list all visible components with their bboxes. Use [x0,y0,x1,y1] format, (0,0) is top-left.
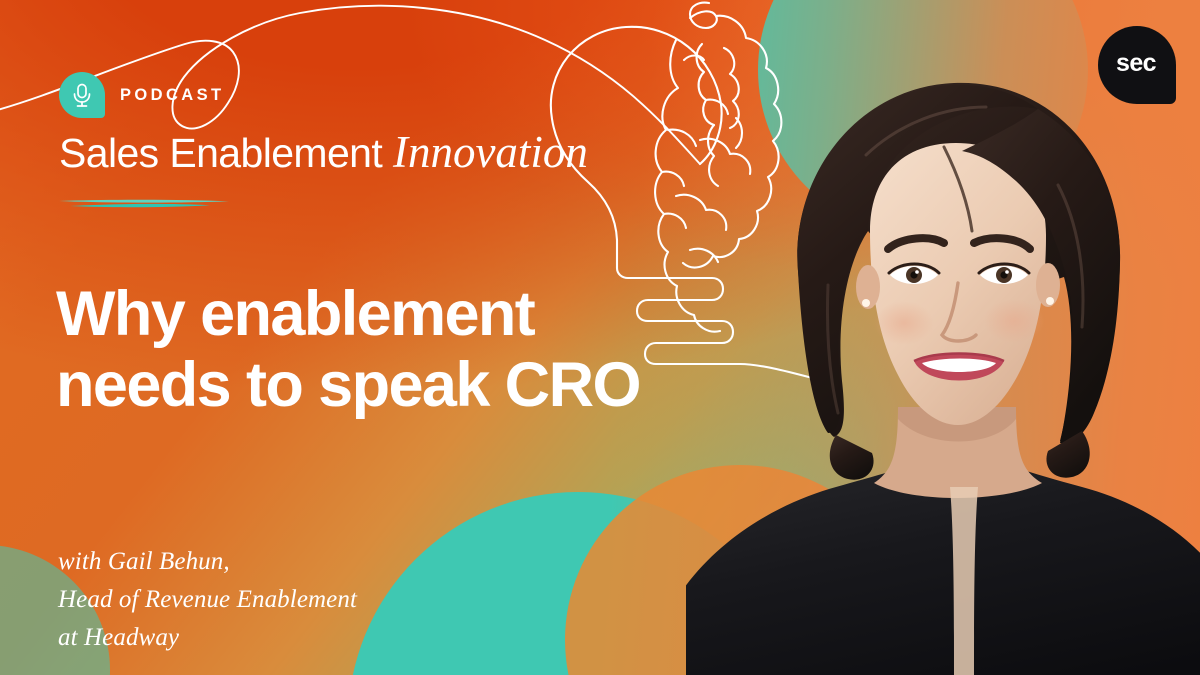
microphone-icon [70,82,94,108]
podcast-bubble [59,72,105,118]
credit-line-2: Head of Revenue Enablement [58,581,357,619]
podcast-label: PODCAST [120,86,224,105]
headline-line-2: needs to speak CRO [56,350,736,421]
show-title-regular: Sales Enablement [59,130,393,176]
credit-line-1: with Gail Behun, [58,543,357,581]
guest-credit: with Gail Behun, Head of Revenue Enablem… [58,543,357,657]
page-title: Why enablement needs to speak CRO [56,279,736,421]
show-title-italic: Innovation [393,127,588,177]
podcast-badge: PODCAST [59,72,224,118]
credit-line-3: at Headway [58,619,357,657]
sec-logo-text: sec [1098,26,1176,104]
title-underline-accent [58,196,230,212]
headline-line-1: Why enablement [56,279,736,350]
podcast-episode-cover: sec PODCAST Sales Enablement Innovation … [0,0,1200,675]
show-title: Sales Enablement Innovation [59,126,588,178]
sec-logo[interactable]: sec [1098,26,1176,104]
